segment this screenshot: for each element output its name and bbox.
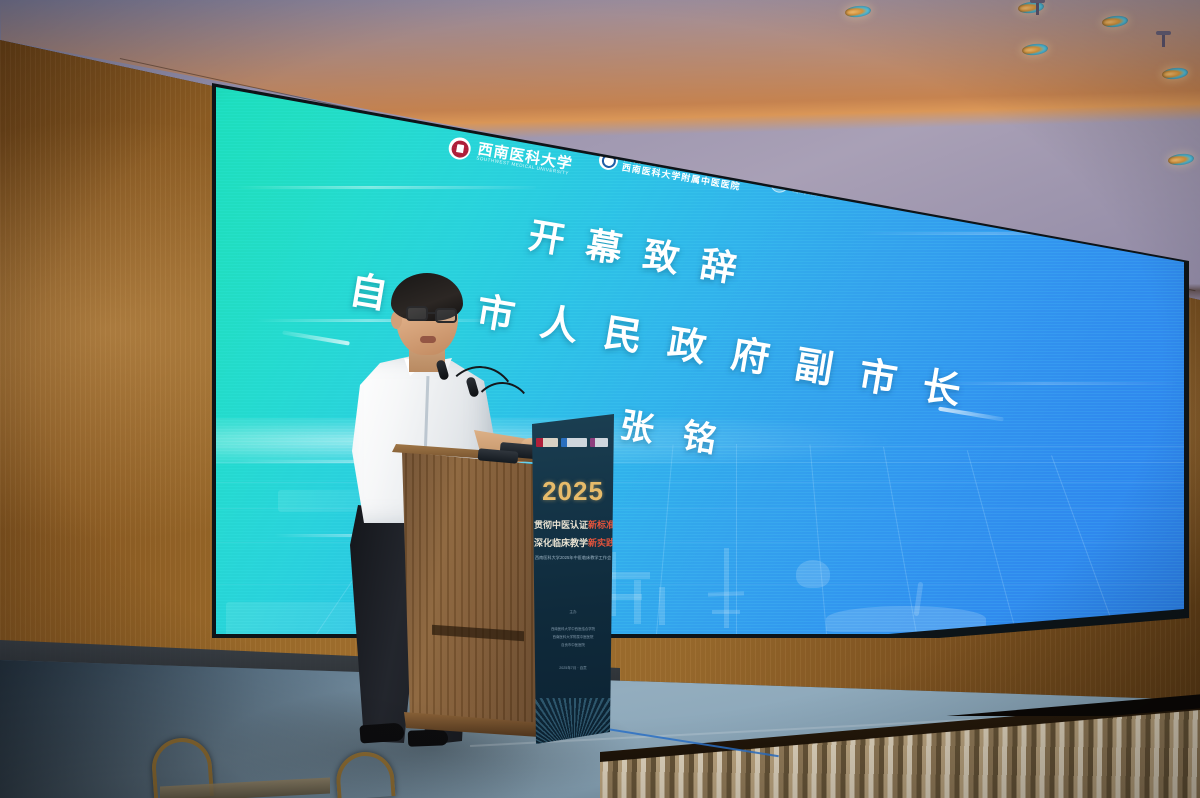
podium-banner-line2-accent: 新实践	[588, 538, 614, 548]
podium-banner-line1: 贯彻中医认证新标准	[534, 518, 612, 531]
speaker-eyeglasses-icon	[406, 306, 428, 321]
podium-banner-line1-main: 贯彻中医认证	[534, 520, 588, 530]
podium-logo-zigong-hospital	[590, 438, 608, 447]
podium-banner-meta-label: 主办	[536, 610, 610, 615]
podium-banner-meta-org2: 西南医科大学附属中医医院	[536, 634, 610, 639]
podium-logo-southwest-medical-university	[536, 438, 558, 447]
podium-banner-meta-date: 2025年7月 · 自贡	[536, 666, 610, 671]
podium-logo-tcm-college	[561, 438, 587, 447]
speaker-eyeglasses-bridge	[428, 312, 435, 314]
podium-banner-meta-org1: 西南医科大学中西医结合学院	[536, 626, 610, 631]
podium-banner-subtitle: 西南医科大学2025年中医临床教学工作会	[534, 555, 612, 561]
podium-banner-year: 2025	[532, 476, 614, 507]
ceiling-sprinkler-icon	[1162, 34, 1165, 47]
podium-banner-line2-main: 深化临床教学	[534, 538, 588, 548]
podium-banner-line2: 深化临床教学新实践	[534, 536, 612, 549]
ceiling-sprinkler-icon	[1036, 2, 1039, 15]
podium-banner-meta-org3: 自贡市中医医院	[536, 642, 610, 647]
speaker-mouth	[420, 336, 436, 343]
podium-banner-line1-accent: 新标准	[588, 520, 614, 530]
podium-banner-logo-row	[536, 438, 610, 447]
podium-banner: 2025 贯彻中医认证新标准 深化临床教学新实践 西南医科大学2025年中医临床…	[532, 414, 614, 744]
speaker-shoe	[408, 729, 449, 746]
speaker-shoe	[359, 722, 404, 743]
podium-body	[398, 452, 554, 734]
speaker-eyeglasses-icon	[435, 308, 457, 323]
conference-stage-photo: 西南医科大学 SOUTHWEST MEDICAL UNIVERSITY 西南医科…	[0, 0, 1200, 798]
